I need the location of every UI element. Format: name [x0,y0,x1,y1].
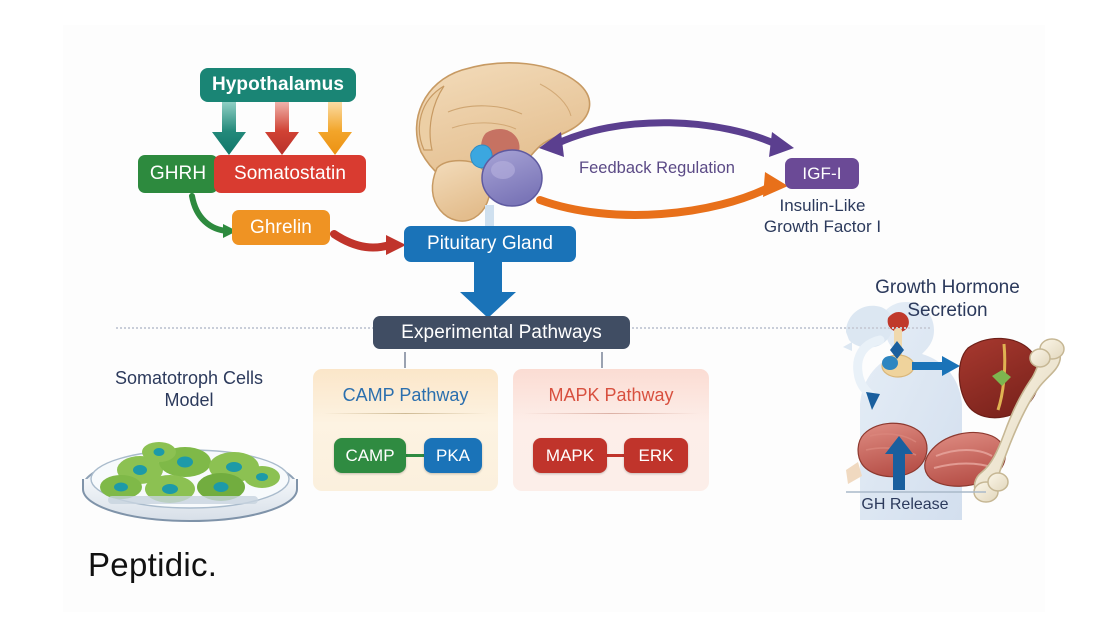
somatotroph-cells-caption: Somatotroph Cells Model [74,368,304,412]
node-camp[interactable]: CAMP [334,438,406,473]
gh-secretion-title: Growth Hormone Secretion [845,276,1050,322]
ghrelin-to-pituitary-arrow [334,234,406,255]
node-pituitary-gland[interactable]: Pituitary Gland [404,226,576,262]
node-ghrelin[interactable]: Ghrelin [232,210,330,245]
mapk-pathway-title: MAPK Pathway [513,385,709,406]
gh-secretion-illustration [843,302,1064,520]
node-mapk[interactable]: MAPK [533,438,607,473]
brand-wordmark: Peptidic. [88,546,217,584]
node-ghrh[interactable]: GHRH [138,155,218,193]
camp-title-rule [323,413,488,414]
node-pka[interactable]: PKA [424,438,482,473]
node-hypothalamus[interactable]: Hypothalamus [200,68,356,102]
ghrh-to-ghrelin-arrow [192,196,237,238]
hypothalamus-down-arrows [212,102,352,155]
diagram-canvas: Hypothalamus GHRH Somatostatin Ghrelin P… [0,0,1100,617]
petri-dish-illustration [83,442,297,521]
node-igf1[interactable]: IGF-I [785,158,859,189]
experimental-pathways-header[interactable]: Experimental Pathways [373,316,630,349]
node-somatostatin[interactable]: Somatostatin [214,155,366,193]
connector-stem-mapk [601,352,603,368]
feedback-regulation-arrow [539,123,794,157]
mapk-title-rule [523,413,699,414]
feedback-regulation-label: Feedback Regulation [552,158,762,178]
igf1-caption: Insulin-Like Growth Factor I [735,196,910,237]
gh-release-label: GH Release [840,495,970,515]
connector-stem-camp [404,352,406,368]
pituitary-down-arrow [460,262,516,318]
camp-pathway-title: CAMP Pathway [313,385,498,406]
node-erk[interactable]: ERK [624,438,688,473]
